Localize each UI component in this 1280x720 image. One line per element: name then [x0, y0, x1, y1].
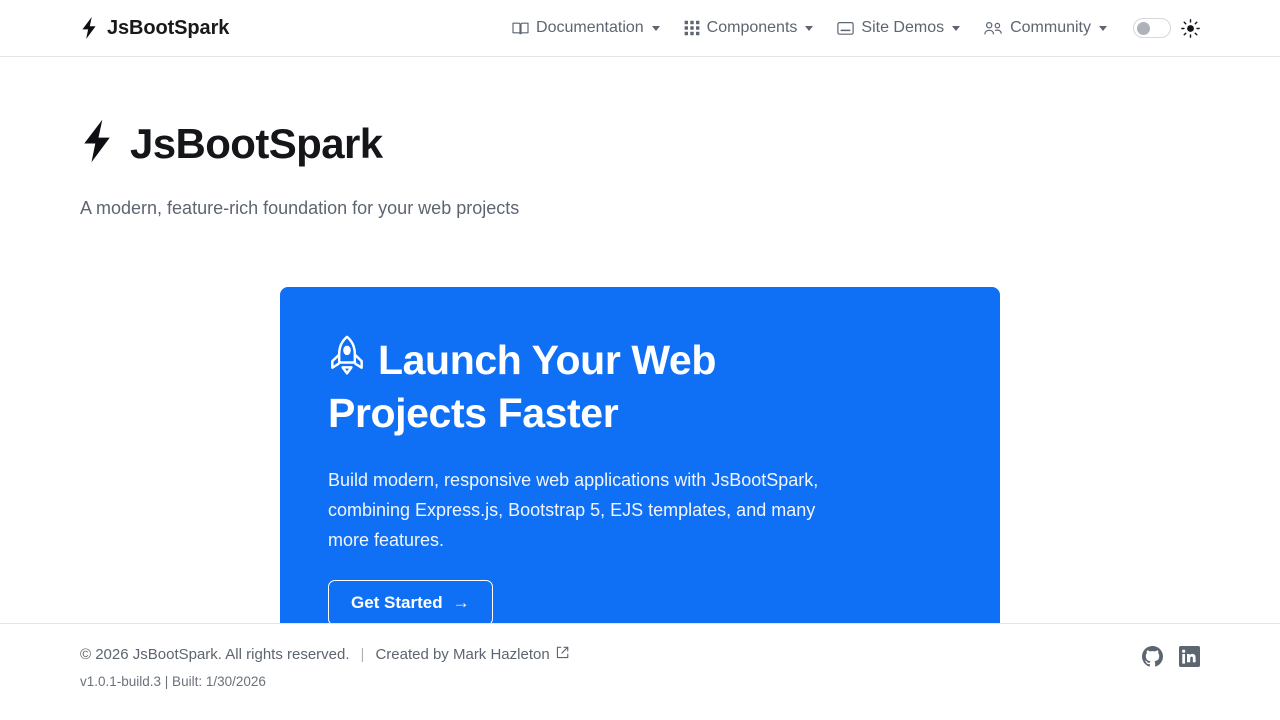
page-footer: © 2026 JsBootSpark. All rights reserved.… [0, 623, 1280, 720]
book-icon [512, 21, 529, 36]
sun-icon[interactable] [1181, 19, 1200, 38]
linkedin-icon[interactable] [1179, 646, 1200, 667]
footer-separator: | [361, 646, 365, 663]
github-icon[interactable] [1142, 646, 1163, 667]
page-title: JsBootSpark [80, 118, 382, 169]
nav-item-label: Site Demos [861, 19, 944, 37]
footer-version: v1.0.1-build.3 | Built: 1/30/2026 [80, 674, 570, 689]
grid-icon [684, 20, 700, 36]
external-link-icon [555, 645, 570, 664]
footer-author-link[interactable]: Created by Mark Hazleton [375, 645, 569, 664]
nav-item-components[interactable]: Components [672, 11, 826, 45]
hero-title-text: Launch Your Web Projects Faster [328, 337, 716, 436]
chevron-down-icon [1099, 26, 1107, 31]
footer-left: © 2026 JsBootSpark. All rights reserved.… [80, 645, 570, 689]
window-icon [837, 21, 854, 36]
nav-item-site-demos[interactable]: Site Demos [825, 11, 972, 45]
get-started-button[interactable]: Get Started → [328, 580, 493, 623]
get-started-label: Get Started [351, 593, 443, 613]
people-icon [984, 21, 1003, 36]
arrow-right-icon: → [453, 593, 470, 613]
footer-author-label: Created by Mark Hazleton [375, 646, 549, 663]
nav-items: Documentation [500, 11, 1200, 45]
top-navbar: JsBootSpark Documentation [0, 0, 1280, 57]
page-subtitle: A modern, feature-rich foundation for yo… [80, 198, 519, 219]
nav-item-community[interactable]: Community [972, 11, 1119, 45]
footer-social-links [1142, 646, 1200, 667]
theme-toggle[interactable] [1133, 18, 1171, 38]
chevron-down-icon [652, 26, 660, 31]
main-content: JsBootSpark A modern, feature-rich found… [0, 57, 1280, 623]
lightning-bolt-icon [80, 118, 114, 169]
rocket-icon [328, 335, 366, 390]
hero-card: Launch Your Web Projects Faster Build mo… [280, 287, 1000, 623]
nav-item-label: Community [1010, 19, 1091, 37]
chevron-down-icon [952, 26, 960, 31]
nav-item-label: Components [707, 19, 798, 37]
footer-copyright: © 2026 JsBootSpark. All rights reserved. [80, 646, 350, 663]
nav-item-documentation[interactable]: Documentation [500, 11, 672, 45]
hero-title: Launch Your Web Projects Faster [328, 335, 798, 438]
footer-copyright-line: © 2026 JsBootSpark. All rights reserved.… [80, 645, 570, 664]
theme-toggle-knob [1137, 22, 1150, 35]
brand-name: JsBootSpark [107, 17, 229, 40]
lightning-bolt-icon [80, 17, 98, 39]
page-title-text: JsBootSpark [130, 120, 382, 168]
chevron-down-icon [805, 26, 813, 31]
theme-toggle-group [1133, 18, 1200, 38]
nav-item-label: Documentation [536, 19, 644, 37]
brand-logo-link[interactable]: JsBootSpark [80, 17, 229, 40]
hero-body-text: Build modern, responsive web application… [328, 465, 840, 556]
